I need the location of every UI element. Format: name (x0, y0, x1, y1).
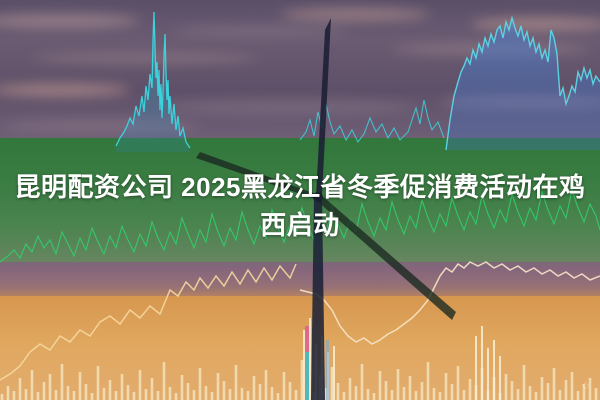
headline-line-2: 西启动 (0, 206, 600, 244)
banner-image: 昆明配资公司 2025黑龙江省冬季促消费活动在鸡 西启动 ◇ (0, 0, 600, 400)
watermark-icon: ◇ (582, 380, 589, 391)
headline-line-1: 昆明配资公司 2025黑龙江省冬季促消费活动在鸡 (14, 172, 585, 202)
page-title: 昆明配资公司 2025黑龙江省冬季促消费活动在鸡 西启动 (0, 168, 600, 244)
